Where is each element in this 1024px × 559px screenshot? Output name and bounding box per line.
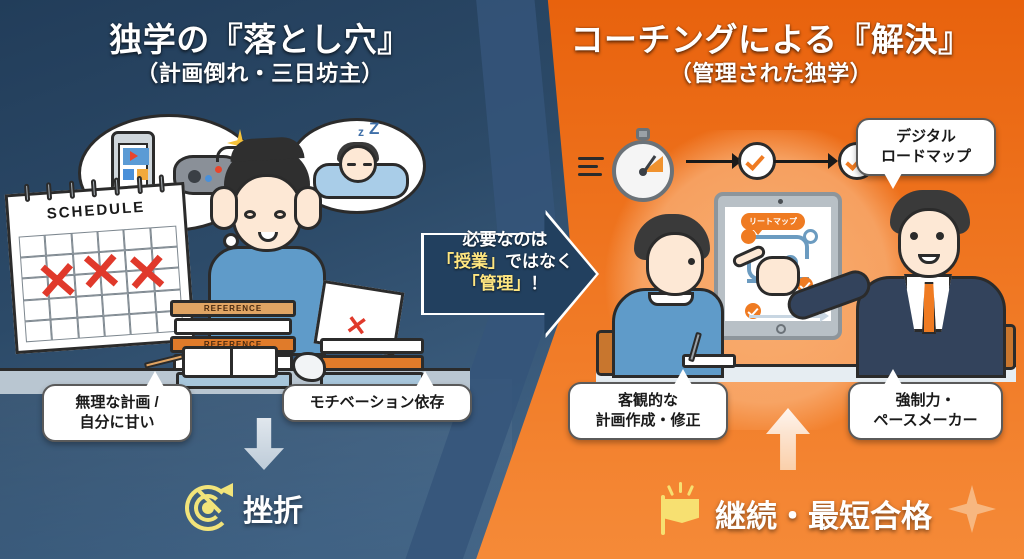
schedule-calendar: SCHEDULE ✕ ✕ ✕: [5, 182, 196, 354]
left-title-sub: （計画倒れ・三日坊主）: [60, 62, 460, 86]
callout-bad-plan[interactable]: 無理な計画 / 自分に甘い: [42, 384, 192, 442]
student-illustration: [612, 214, 730, 374]
callout-motivation-line1: モチベーション依存: [297, 393, 457, 413]
arrow-line-2-quote: 「授業」: [437, 252, 505, 271]
right-title-main: コーチングによる『解決』: [566, 22, 976, 58]
cross-mark-icon: ✕: [34, 255, 81, 310]
right-result-label: 継続・最短合格: [715, 491, 932, 536]
left-panel-title: 独学の『落とし穴』 （計画倒れ・三日坊主）: [60, 22, 460, 85]
callout-roadmap-line1: デジタル: [871, 127, 981, 147]
speed-lines-icon: [578, 152, 604, 181]
right-panel-title: コーチングによる『解決』 （管理された独学）: [566, 22, 976, 85]
callout-objective-line1: 客観的な: [583, 391, 713, 411]
stopwatch-icon: [612, 130, 678, 198]
arrow-line-1: 必要なのは: [430, 229, 580, 251]
left-illustration: Z z SCHEDULE ✕ ✕ ✕: [0, 100, 480, 400]
zz-sleep-icon: Z z: [369, 119, 379, 139]
callout-roadmap-line2: ロードマップ: [871, 147, 981, 167]
arrow-line-3-rest: ！: [531, 274, 548, 293]
zz-small: z: [358, 125, 364, 139]
roadmap-node-current: [741, 229, 756, 244]
callout-enforcement-line2: ペースメーカー: [863, 411, 988, 431]
secondary-book-stack: [320, 338, 428, 390]
open-textbook: [182, 346, 278, 378]
arrow-line-3: 「管理」！: [430, 273, 580, 295]
check-circle-icon: [738, 142, 776, 180]
callout-objective-planning[interactable]: 客観的な 計画作成・修正: [568, 382, 728, 440]
callout-enforcement-pacemaker[interactable]: 強制力・ ペースメーカー: [848, 382, 1003, 440]
center-arrow-message: 必要なのは 「授業」ではなく 「管理」！: [430, 229, 580, 294]
right-result: 継続・最短合格: [655, 489, 932, 537]
roadmap-chip-label: リートマップ: [741, 213, 805, 230]
cross-mark-icon: ✕: [78, 245, 125, 300]
callout-bad-plan-line2: 自分に甘い: [57, 413, 177, 433]
left-result-label: 挫折: [243, 486, 303, 530]
cross-mark-icon: ✕: [124, 246, 171, 301]
right-title-sub: （管理された独学）: [566, 62, 976, 86]
left-title-main: 独学の『落とし穴』: [60, 22, 460, 58]
arrow-line-2-rest: ではなく: [505, 252, 573, 271]
book-label: REFERENCE: [173, 303, 293, 314]
callout-bad-plan-line1: 無理な計画 /: [57, 393, 177, 413]
flag-icon: [655, 489, 703, 537]
coach-illustration: [848, 188, 1010, 378]
calendar-title: SCHEDULE: [9, 196, 184, 225]
arrow-line-2: 「授業」ではなく: [430, 251, 580, 273]
callout-digital-roadmap[interactable]: デジタル ロードマップ: [856, 118, 996, 176]
roadmap-node: [803, 229, 818, 244]
arrow-line-3-quote: 「管理」: [463, 274, 531, 293]
target-icon: [185, 485, 231, 531]
callout-enforcement-line1: 強制力・: [863, 391, 988, 411]
left-result: 挫折: [185, 485, 303, 531]
callout-objective-line2: 計画作成・修正: [583, 411, 713, 431]
infographic-canvas: Z z SCHEDULE ✕ ✕ ✕: [0, 0, 1024, 559]
callout-motivation-dependent[interactable]: モチベーション依存: [282, 384, 472, 422]
zz-big: Z: [369, 119, 379, 138]
pointing-hand-icon: [756, 256, 800, 296]
